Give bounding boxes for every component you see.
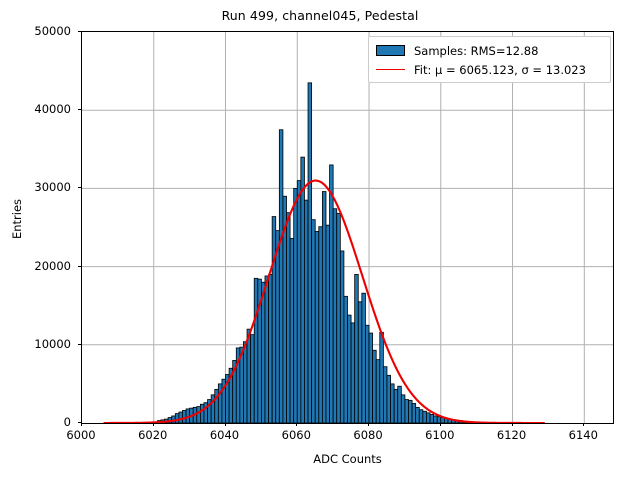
- x-tick-label: 6000: [51, 429, 111, 441]
- x-axis-label: ADC Counts: [81, 452, 614, 466]
- legend-patch-icon: [376, 45, 405, 56]
- chart-figure: Run 499, channel045, Pedestal 0100002000…: [0, 0, 640, 480]
- legend-entry-fit: Fit: μ = 6065.123, σ = 13.023: [376, 60, 604, 79]
- legend-entry-samples: Samples: RMS=12.88: [376, 41, 604, 60]
- x-tick-label: 6040: [195, 429, 255, 441]
- x-tick-label: 6100: [410, 429, 470, 441]
- legend-label-samples: Samples: RMS=12.88: [414, 44, 538, 58]
- x-tick-label: 6140: [553, 429, 613, 441]
- y-axis-label: Entries: [10, 169, 24, 269]
- x-tick-label: 6080: [338, 429, 398, 441]
- legend-line-icon: [376, 64, 405, 75]
- plot-svg: [82, 32, 613, 423]
- x-tick-label: 6060: [266, 429, 326, 441]
- x-tick-label: 6020: [123, 429, 183, 441]
- chart-legend[interactable]: Samples: RMS=12.88 Fit: μ = 6065.123, σ …: [368, 36, 611, 83]
- x-tick-label: 6120: [482, 429, 542, 441]
- legend-label-fit: Fit: μ = 6065.123, σ = 13.023: [414, 63, 586, 77]
- plot-area: [81, 31, 614, 424]
